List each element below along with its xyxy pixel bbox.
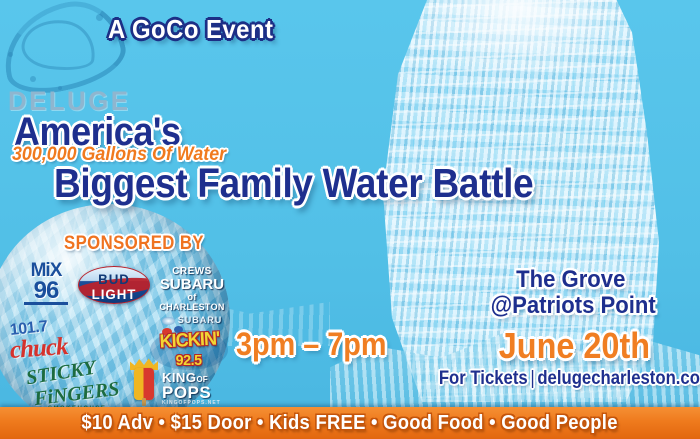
sponsor-logo-crews-subaru: CREWS SUBARU of CHARLESTON SUBARU [154, 266, 230, 325]
kickin-line-1: KICKIN' [159, 328, 220, 353]
page-title: A GoCo Event [108, 16, 273, 42]
water-droplet-icon [96, 14, 103, 21]
crews-line-3: of CHARLESTON [154, 292, 230, 312]
popsicle-icon [134, 368, 154, 400]
event-times: 3pm – 7pm [236, 328, 386, 360]
venue-line-1: The Grove [516, 268, 625, 292]
headline-line-2: Biggest Family Water Battle [54, 163, 533, 204]
crews-line-2: SUBARU [154, 277, 230, 292]
sponsor-logo-101-7-chuck: 101.7 chuck [10, 320, 90, 363]
subaru-badge: SUBARU [154, 315, 230, 325]
venue-line-2: @Patriots Point [491, 294, 656, 318]
event-poster: A GoCo Event DELUGE America's 300,000 Ga… [0, 0, 700, 439]
chuck-wordmark: chuck [9, 333, 68, 365]
mix-96-line-2: 96 [18, 280, 74, 302]
tickets-url[interactable]: delugecharleston.com [537, 368, 700, 389]
subaru-stars-icon [162, 317, 175, 325]
sponsored-by-label: SPONSORED BY [64, 234, 204, 253]
sponsor-logo-king-of-pops: KINGOF POPS KINGOFPOPS.NET [128, 358, 236, 406]
sponsor-logo-bud-light: BUD LIGHT [78, 266, 150, 304]
king-of-pops-line-3: KINGOFPOPS.NET [162, 400, 221, 406]
footer-info-bar: $10 Adv • $15 Door • Kids FREE • Good Fo… [0, 407, 700, 439]
tickets-line: For Tickets|delugecharleston.com [439, 369, 700, 388]
footer-info-text: $10 Adv • $15 Door • Kids FREE • Good Fo… [82, 412, 618, 435]
tickets-label: For Tickets [439, 368, 528, 389]
bud-light-line-1: BUD [81, 271, 148, 287]
sponsor-logo-sticky-fingers: STICKY FiNGERS SMOKEHOUSE [26, 362, 130, 406]
water-droplet-icon [8, 52, 13, 57]
tickets-separator: | [528, 368, 538, 389]
bud-light-line-2: LIGHT [81, 286, 148, 302]
popsicle-stick-icon [142, 398, 146, 406]
event-date: June 20th [499, 328, 650, 364]
sponsor-logo-mix-96: MiX 96 [18, 262, 74, 304]
subaru-wordmark: SUBARU [178, 315, 223, 325]
water-droplet-icon [30, 76, 36, 82]
